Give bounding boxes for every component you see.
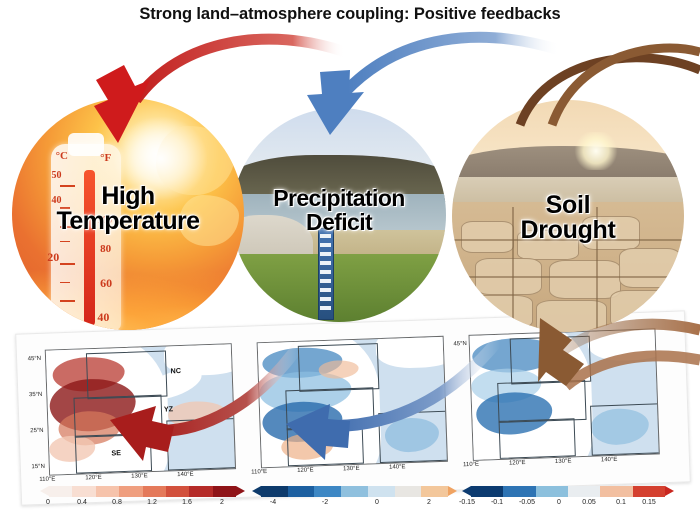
lat-tick-label: 35°N — [16, 392, 42, 399]
lon-tick-label: 110°E — [251, 469, 267, 476]
thermometer-fahrenheit-tick: 40 — [97, 310, 109, 325]
colorbar-extend-left — [462, 486, 471, 496]
colorbar-extend-right — [448, 486, 457, 496]
region-box-yz — [73, 395, 162, 438]
colorbar-extend-left — [252, 486, 261, 496]
lon-tick-label: 120°E — [85, 475, 102, 482]
region-box-yz — [285, 387, 374, 430]
region-box-inset — [590, 403, 660, 455]
region-box-se — [287, 426, 364, 467]
region-box-nc — [510, 336, 592, 385]
node-soil-drought[interactable]: Soil Drought — [452, 100, 684, 332]
lon-tick-label: 110°E — [463, 462, 479, 469]
thermometer-fahrenheit-tick: 60 — [100, 276, 112, 291]
thermometer-celsius-tick: 50 — [51, 170, 61, 181]
colorbar-tick-label: -2 — [310, 499, 340, 506]
lat-tick-label: 45°N — [15, 356, 41, 363]
land-mask — [587, 328, 660, 361]
thermometer-icon: °C °F 50 40 20 100 80 60 40 — [51, 144, 121, 330]
thermometer-celsius-tick: 40 — [51, 195, 61, 206]
page-title: Strong land–atmosphere coupling: Positiv… — [0, 5, 700, 24]
colorbar-tick-label: -0.1 — [482, 499, 512, 506]
region-box-nc — [86, 350, 168, 399]
colorbar-tick-label: 0.1 — [606, 499, 636, 506]
colorbar-tick-label: 1.6 — [172, 499, 202, 506]
colorbar-tick-label: 1.2 — [137, 499, 167, 506]
lon-tick-label: 130°E — [343, 466, 360, 473]
colorbar-tick-label: 0.15 — [634, 499, 664, 506]
temperature-anomaly-map: NC YZ SE — [45, 343, 236, 475]
precipitation-anomaly-map — [257, 336, 448, 468]
colorbar-tick-label: -0.05 — [512, 499, 542, 506]
colorbar-tick-label: 0.8 — [102, 499, 132, 506]
thermometer-fahrenheit-tick: 100 — [97, 215, 112, 226]
reservoir-photo — [232, 108, 446, 322]
colorbar-tick-label: 0 — [33, 499, 63, 506]
map-figure-plate: NC YZ SE — [15, 310, 691, 505]
heatwave-photo: °C °F 50 40 20 100 80 60 40 — [12, 98, 244, 330]
colorbar-tick-label: 2 — [414, 499, 444, 506]
lon-tick-label: 140°E — [177, 472, 194, 479]
colorbar-tick-label: 0.4 — [67, 499, 97, 506]
lon-tick-label: 110°E — [39, 476, 55, 483]
lon-tick-label: 130°E — [131, 473, 148, 480]
drought-photo — [452, 100, 684, 332]
region-label: NC — [170, 366, 181, 375]
node-precipitation-deficit[interactable]: Precipitation Deficit — [232, 108, 446, 322]
colorbar-gradient — [261, 486, 448, 497]
lon-tick-label: 140°E — [389, 464, 406, 471]
region-box-nc — [298, 343, 380, 392]
soil-moisture-colorbar: -0.15 -0.1 -0.05 0 0.05 0.1 0.15 — [462, 486, 674, 516]
lon-tick-label: 120°E — [297, 467, 314, 474]
colorbar-gradient — [471, 486, 665, 497]
node-high-temperature[interactable]: °C °F 50 40 20 100 80 60 40 High Tempera… — [12, 98, 244, 330]
water-level-gauge — [318, 228, 334, 320]
lon-tick-label: 130°E — [555, 458, 572, 465]
land-mask — [375, 336, 448, 369]
region-box-yz — [497, 380, 586, 423]
soil-moisture-anomaly-map — [469, 328, 660, 460]
lat-tick-label: 15°N — [19, 464, 45, 471]
colorbar-tick-label: 0.05 — [574, 499, 604, 506]
thermometer-celsius-tick: 20 — [47, 250, 59, 265]
lat-tick-label: 25°N — [18, 428, 44, 435]
colorbar-tick-label: -4 — [258, 499, 288, 506]
lon-tick-label: 120°E — [509, 460, 526, 467]
colorbar-extend-left — [40, 486, 49, 496]
colorbar-tick-label: 0 — [362, 499, 392, 506]
colorbar-extend-right — [665, 486, 674, 496]
precipitation-colorbar: -4 -2 0 2 — [252, 486, 457, 516]
thermometer-fahrenheit-tick: 80 — [100, 243, 111, 255]
colorbar-gradient — [49, 486, 236, 497]
thermometer-fahrenheit-unit: °F — [100, 152, 111, 164]
infographic-canvas: Strong land–atmosphere coupling: Positiv… — [0, 0, 700, 519]
lon-tick-label: 140°E — [601, 457, 618, 464]
region-box-inset — [378, 411, 448, 463]
temperature-colorbar: 0 0.4 0.8 1.2 1.6 2 — [40, 486, 245, 516]
colorbar-tick-label: 0 — [544, 499, 574, 506]
colorbar-tick-label: -0.15 — [452, 499, 482, 506]
arrow-temp-to-precip-top — [136, 39, 345, 100]
region-box-se — [499, 418, 576, 459]
arrow-precip-to-soil-top — [345, 37, 560, 92]
thermometer-celsius-unit: °C — [56, 150, 68, 162]
lat-tick-label: 45°N — [441, 341, 467, 348]
colorbar-tick-label: 2 — [207, 499, 237, 506]
region-label: SE — [111, 448, 121, 457]
region-box-inset — [166, 418, 236, 470]
colorbar-extend-right — [236, 486, 245, 496]
region-label: YZ — [164, 404, 173, 413]
